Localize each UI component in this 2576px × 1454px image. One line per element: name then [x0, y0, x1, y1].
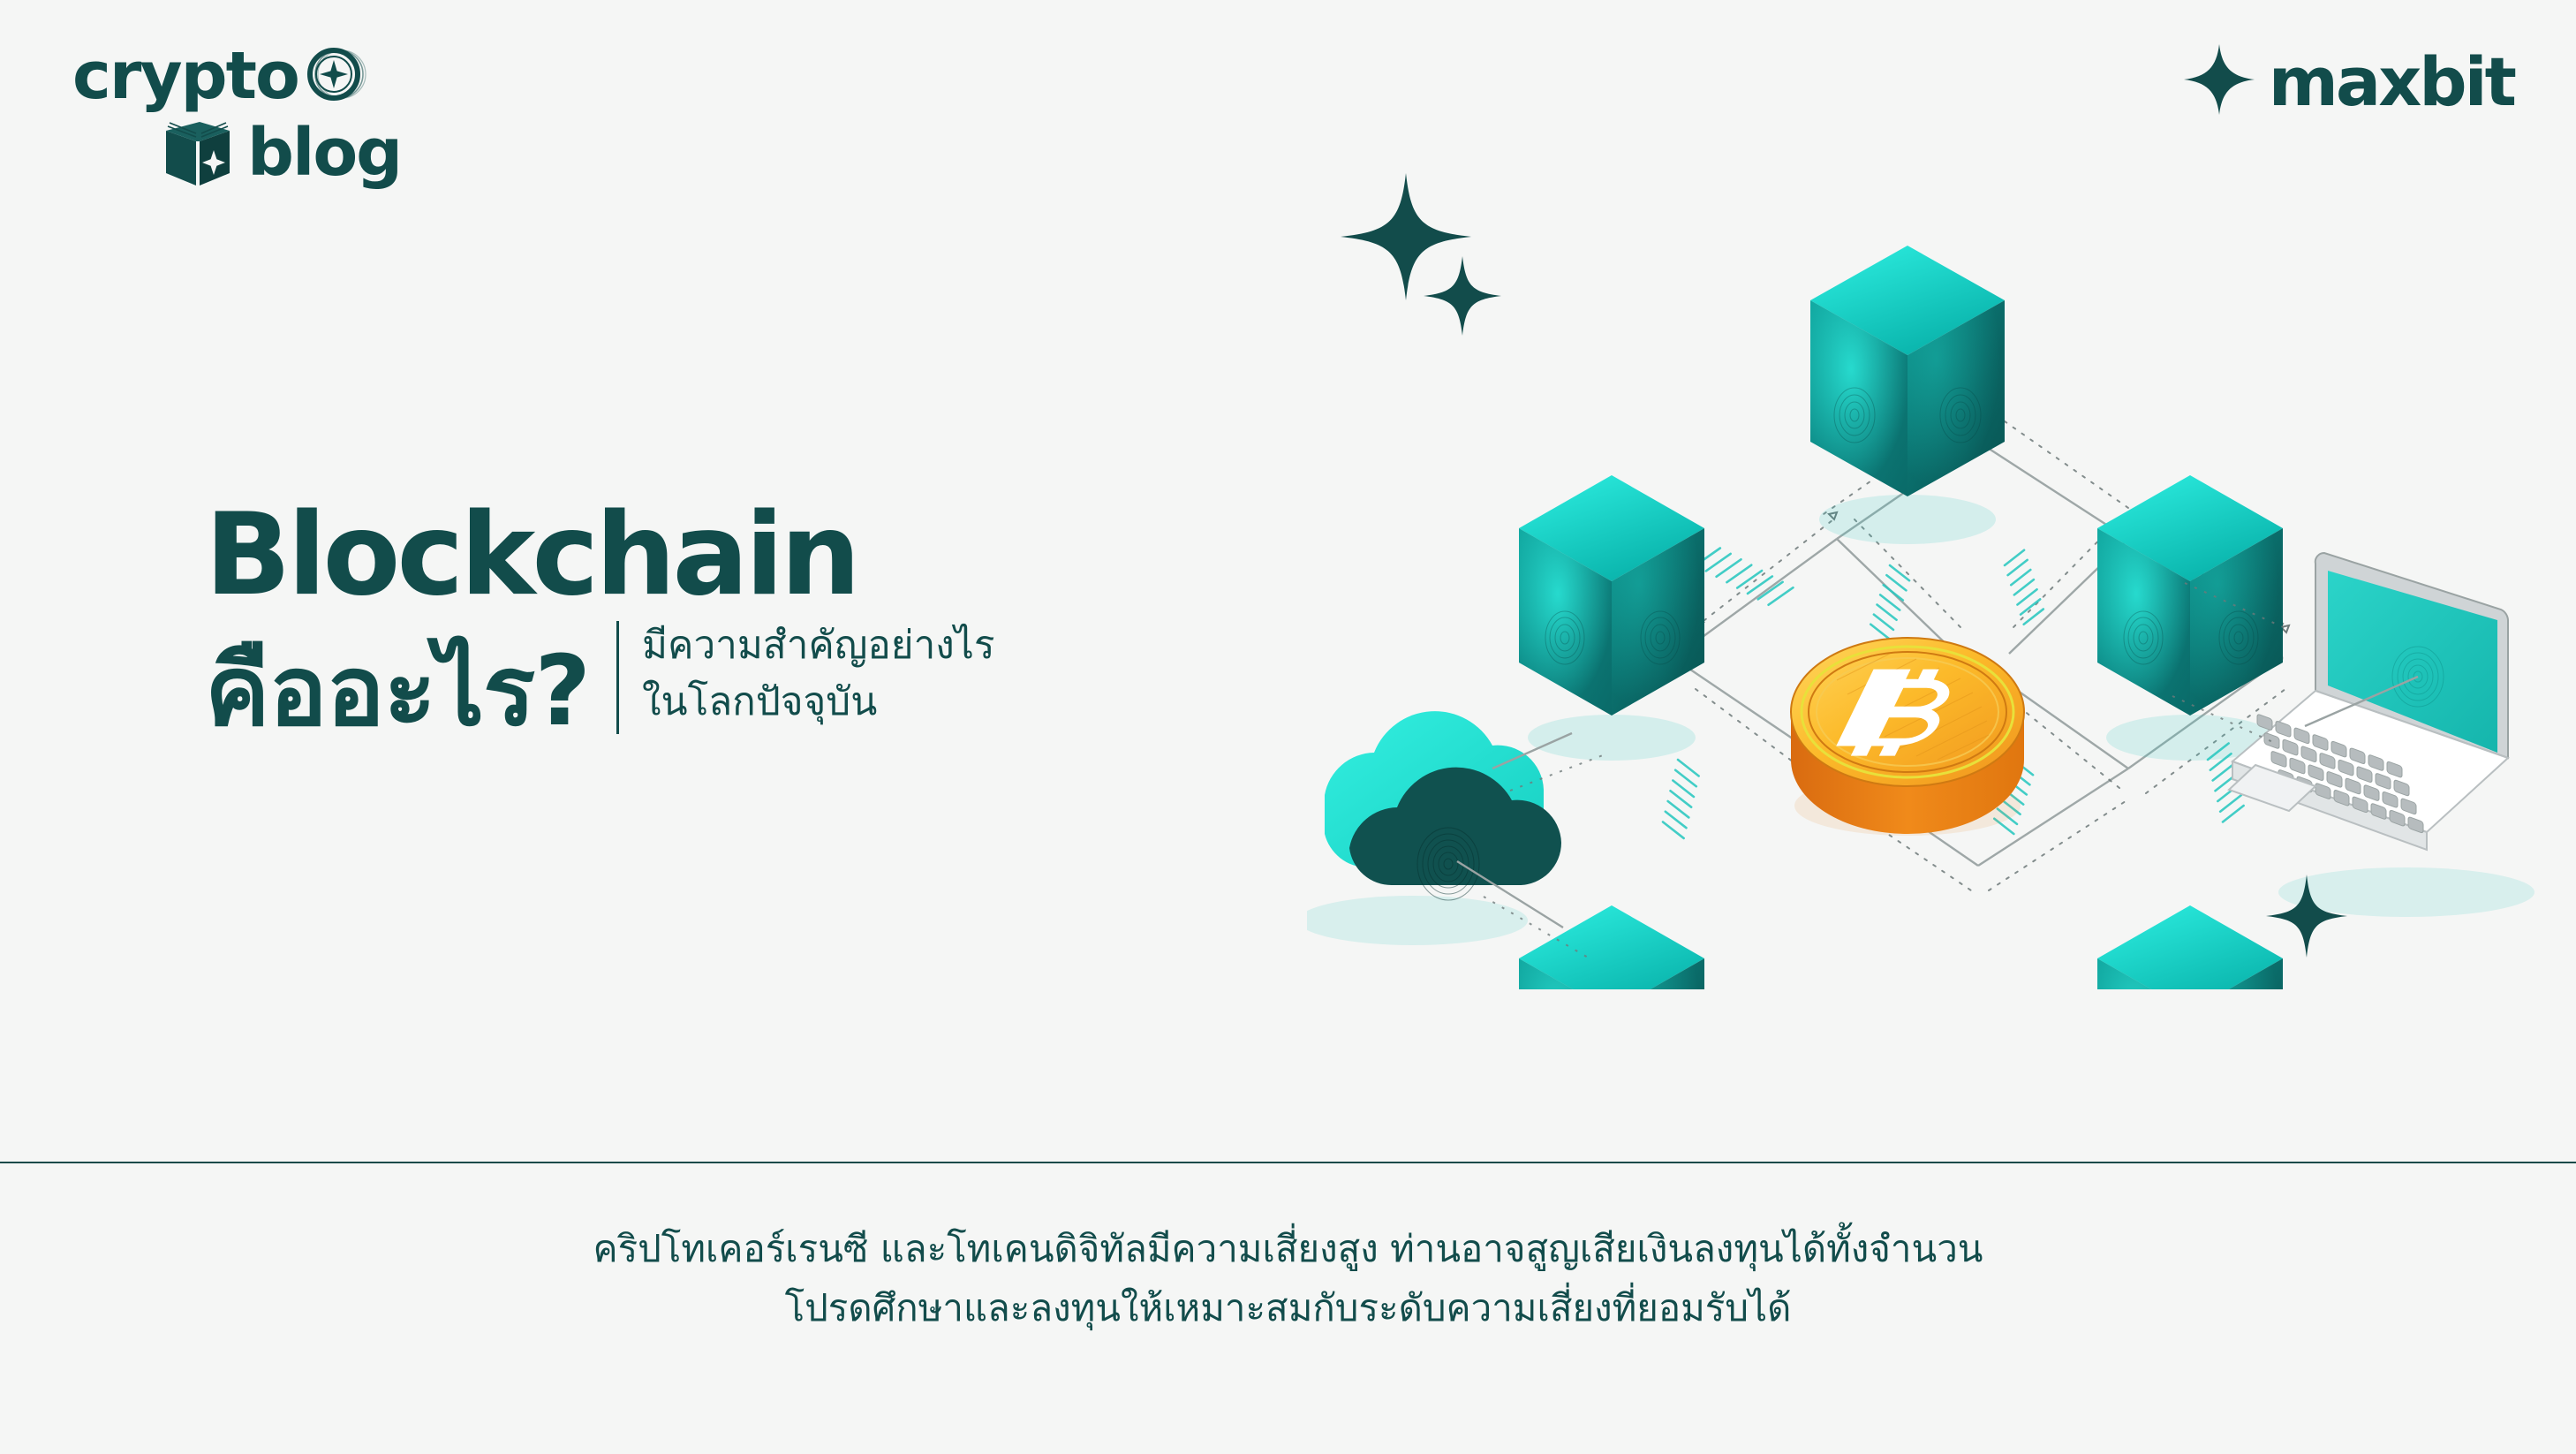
disclaimer-line-2: โปรดศึกษาและลงทุนให้เหมาะสมกับระดับความเ…: [0, 1278, 2576, 1337]
subtitle-lines: มีความสำคัญอย่างไร ในโลกปัจจุบัน: [642, 617, 995, 743]
sparkle-large-top: [1341, 173, 1471, 300]
subtitle-line-2: ในโลกปัจจุบัน: [642, 674, 995, 731]
cube-upper-left-node: [1519, 475, 1704, 761]
cube-upper-right-node: [2097, 475, 2283, 761]
cube-top-node: [1810, 246, 2005, 544]
sparkle-small-top: [1424, 256, 1501, 336]
page-title-english: Blockchain: [205, 499, 1300, 612]
book-sparkle-icon: [161, 111, 238, 195]
four-point-star-icon: [2182, 42, 2256, 121]
subtitle-vertical-divider: [616, 621, 619, 734]
blockchain-network-illustration: [1307, 150, 2561, 989]
brand-logo-word-blog: blog: [247, 122, 401, 184]
brand-logo[interactable]: crypto blog: [72, 42, 443, 184]
coin-sparkle-icon: [304, 42, 367, 110]
page-title-thai: คืออะไร?: [205, 640, 590, 743]
brand-logo-word-crypto: crypto: [72, 45, 298, 107]
maxbit-logo[interactable]: maxbit: [2182, 42, 2514, 121]
bitcoin-coin-node: [1791, 638, 2024, 836]
maxbit-wordmark: maxbit: [2269, 42, 2514, 121]
subtitle-line-1: มีความสำคัญอย่างไร: [642, 617, 995, 674]
disclaimer-block: คริปโทเคอร์เรนซี และโทเคนดิจิทัลมีความเส…: [0, 1219, 2576, 1337]
brand-logo-row-blog: blog: [161, 111, 401, 195]
cube-lower-right-node: [2097, 905, 2283, 989]
brand-logo-row-crypto: crypto: [72, 42, 367, 110]
headline-subline-row: คืออะไร? มีความสำคัญอย่างไร ในโลกปัจจุบั…: [205, 617, 1300, 743]
headline-block: Blockchain คืออะไร? มีความสำคัญอย่างไร ใ…: [205, 499, 1300, 743]
disclaimer-line-1: คริปโทเคอร์เรนซี และโทเคนดิจิทัลมีความเส…: [0, 1219, 2576, 1278]
footer-divider: [0, 1162, 2576, 1163]
